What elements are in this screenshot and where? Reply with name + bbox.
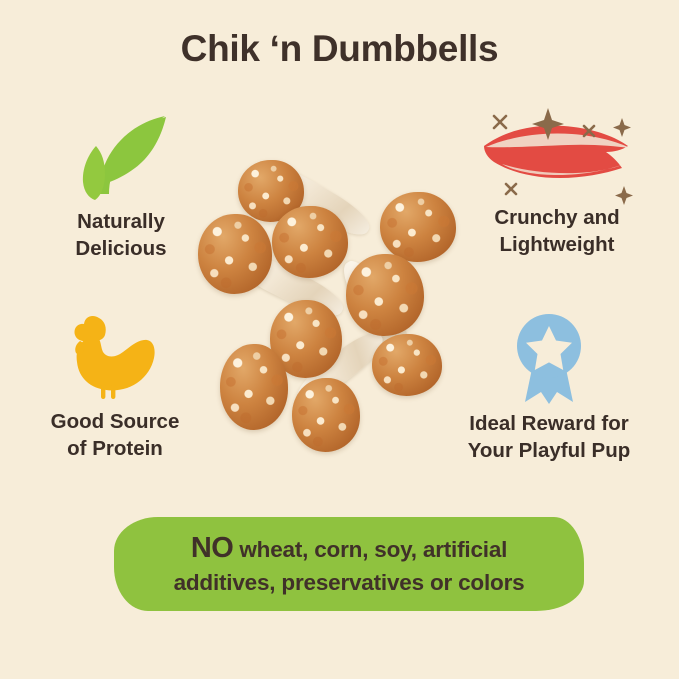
treat-piece <box>198 214 272 294</box>
feature-ideal-reward: Ideal Reward for Your Playful Pup <box>444 310 654 464</box>
page-title: Chik ‘n Dumbbells <box>0 28 679 70</box>
feature-crunchy-lightweight: Crunchy and Lightweight <box>452 104 662 258</box>
banner-line-1: wheat, corn, soy, artificial <box>233 537 507 562</box>
treat-piece <box>346 254 424 336</box>
treat-piece <box>380 192 456 262</box>
product-image <box>196 158 468 458</box>
feature-naturally-delicious: Naturally Delicious <box>16 108 226 262</box>
feature-good-source-protein: Good Source of Protein <box>10 308 220 462</box>
award-ribbon-icon <box>444 310 654 410</box>
treat-piece <box>372 334 442 396</box>
feature-label: Naturally Delicious <box>16 208 226 262</box>
treat-piece <box>220 344 288 430</box>
product-infographic: Chik ‘n Dumbbells Naturally Delicious <box>0 0 679 679</box>
treat-piece <box>292 378 360 452</box>
feature-label: Crunchy and Lightweight <box>442 204 672 258</box>
feature-label: Ideal Reward for Your Playful Pup <box>434 410 664 464</box>
feature-label: Good Source of Protein <box>10 408 220 462</box>
chicken-icon <box>10 308 220 408</box>
no-ingredients-banner: NO wheat, corn, soy, artificial additive… <box>114 517 584 611</box>
banner-line-2: additives, preservatives or colors <box>174 570 525 595</box>
treat-piece <box>272 206 348 278</box>
leaves-icon <box>16 108 226 208</box>
feather-icon <box>452 104 662 204</box>
banner-text: NO wheat, corn, soy, artificial additive… <box>158 529 541 599</box>
banner-emphasis: NO <box>191 532 234 564</box>
